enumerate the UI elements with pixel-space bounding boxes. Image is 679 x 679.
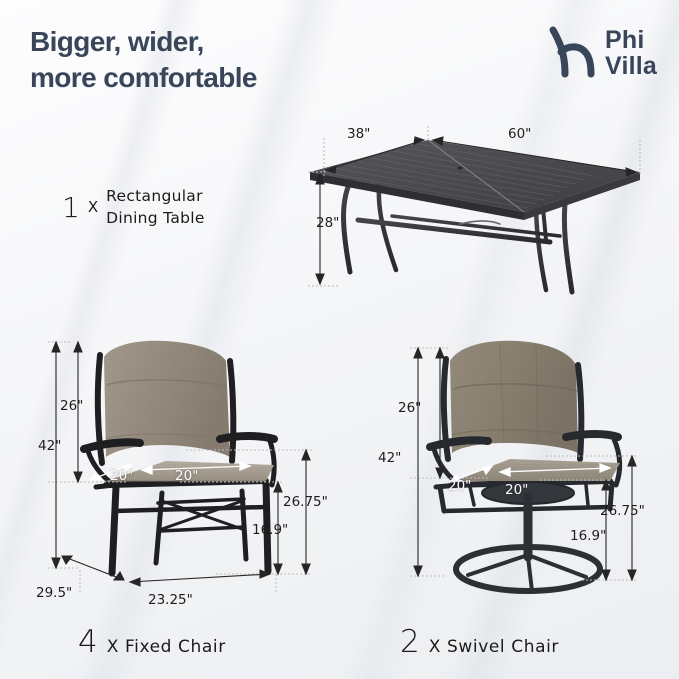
fixed-seat-width-label: 20" [175,468,198,484]
swivel-chair-dimension-lines [370,330,670,615]
page-title: Bigger, wider, more comfortable [30,24,257,96]
table-height-label: 28" [316,215,339,231]
table-name: Rectangular Dining Table [106,185,205,230]
swivel-seat-height-label: 16.9" [570,528,606,544]
fixed-chair-quantity: 4 [78,624,98,660]
brand-line-2: Villa [605,53,657,79]
fixed-width-label: 23.25" [148,592,193,608]
phi-villa-curve-mark-icon [546,26,598,80]
headline-line-2: more comfortable [30,60,257,96]
headline-line-1: Bigger, wider, [30,24,257,60]
swivel-chair-label: X Swivel Chair [429,637,559,657]
swivel-seat-depth-label: 20" [448,478,471,494]
swivel-arm-height-label: 26.75" [600,503,645,519]
table-name-line-1: Rectangular [106,187,203,205]
brand-name: Phi Villa [605,27,657,80]
fixed-seat-height-label: 16.9" [252,522,288,538]
swivel-chair-caption: 2 X Swivel Chair [400,624,559,660]
table-name-line-2: Dining Table [106,209,205,227]
infographic-root: Bigger, wider, more comfortable Phi Vill… [0,0,679,679]
table-multiplier: X [88,198,98,216]
table-depth-label: 38" [347,126,370,142]
table-quantity: 1 [62,191,80,224]
fixed-total-height-label: 42" [38,438,61,454]
fixed-chair-label: X Fixed Chair [107,637,226,657]
swivel-seat-width-label: 20" [505,482,528,498]
brand-logo: Phi Villa [546,26,657,80]
fixed-arm-height-label: 26.75" [283,494,328,510]
fixed-chair-caption: 4 X Fixed Chair [78,624,226,660]
fixed-depth-label: 29.5" [36,585,72,601]
swivel-back-height-label: 26" [398,400,421,416]
fixed-seat-depth-label: 20" [110,468,133,484]
swivel-total-height-label: 42" [378,450,401,466]
swivel-chair-quantity: 2 [400,624,420,660]
table-dimension-lines [300,118,679,318]
table-width-label: 60" [508,126,531,142]
fixed-back-height-label: 26" [60,398,83,414]
brand-line-1: Phi [605,27,657,53]
table-quantity-label: 1 X Rectangular Dining Table [62,185,205,230]
